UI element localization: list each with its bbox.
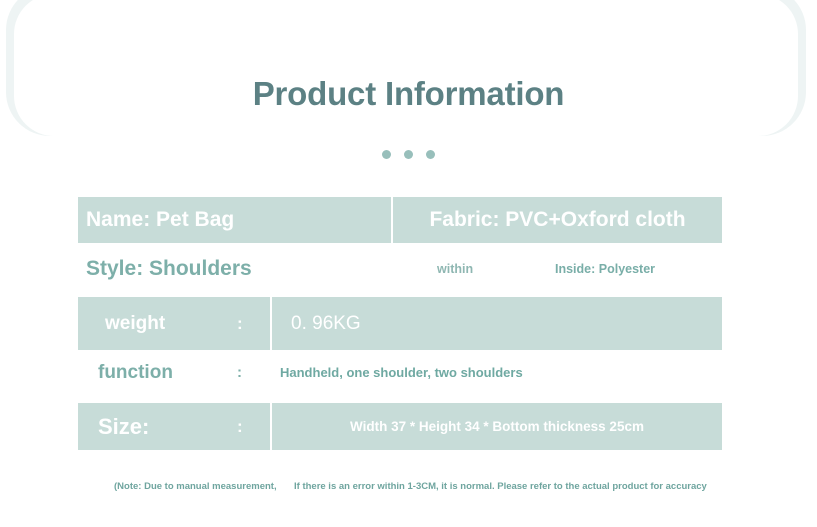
cell-style-details: within Inside: Polyester [393,245,722,293]
separator-dot-3 [426,150,435,159]
footnote-part-two: If there is an error within 1-3CM, it is… [294,481,707,492]
dot-separator [0,150,817,159]
table-row-name-fabric: Name: Pet Bag Fabric: PVC+Oxford cloth [78,197,722,243]
table-row-weight: weight : 0. 96KG [78,297,722,350]
product-information-page: Product Information Name: Pet Bag Fabric… [0,0,817,527]
weight-label: weight [105,313,165,335]
function-value: Handheld, one shoulder, two shoulders [280,365,523,380]
footnote-part-one: (Note: Due to manual measurement, [114,481,277,492]
cell-size-label: Size: : [78,403,270,450]
function-label: function [98,362,173,384]
page-title: Product Information [0,74,817,114]
within-label: within [437,262,473,276]
size-value: Width 37 * Height 34 * Bottom thickness … [350,419,644,434]
function-colon: : [237,364,242,381]
cell-fabric: Fabric: PVC+Oxford cloth [393,197,722,243]
measurement-footnote: (Note: Due to manual measurement, If the… [78,481,722,497]
weight-value: 0. 96KG [291,313,361,335]
cell-size-value: Width 37 * Height 34 * Bottom thickness … [272,403,722,450]
cell-function-value: Handheld, one shoulder, two shoulders [272,352,722,393]
separator-dot-2 [404,150,413,159]
table-row-style: Style: Shoulders within Inside: Polyeste… [78,245,722,293]
table-row-function: function : Handheld, one shoulder, two s… [78,352,722,393]
separator-dot-1 [382,150,391,159]
weight-colon: : [237,314,243,334]
fabric-value: Fabric: PVC+Oxford cloth [429,208,685,232]
name-value: Name: Pet Bag [86,208,234,232]
table-row-size: Size: : Width 37 * Height 34 * Bottom th… [78,403,722,450]
cell-style: Style: Shoulders [78,245,391,293]
product-spec-table: Name: Pet Bag Fabric: PVC+Oxford cloth S… [78,197,722,450]
cell-weight-value: 0. 96KG [272,297,722,350]
cell-name: Name: Pet Bag [78,197,391,243]
cell-function-label: function : [78,352,270,393]
size-colon: : [237,417,243,437]
inside-material-value: Inside: Polyester [555,262,655,276]
style-value: Style: Shoulders [86,257,252,281]
cell-weight-label: weight : [78,297,270,350]
size-label: Size: [98,414,149,440]
